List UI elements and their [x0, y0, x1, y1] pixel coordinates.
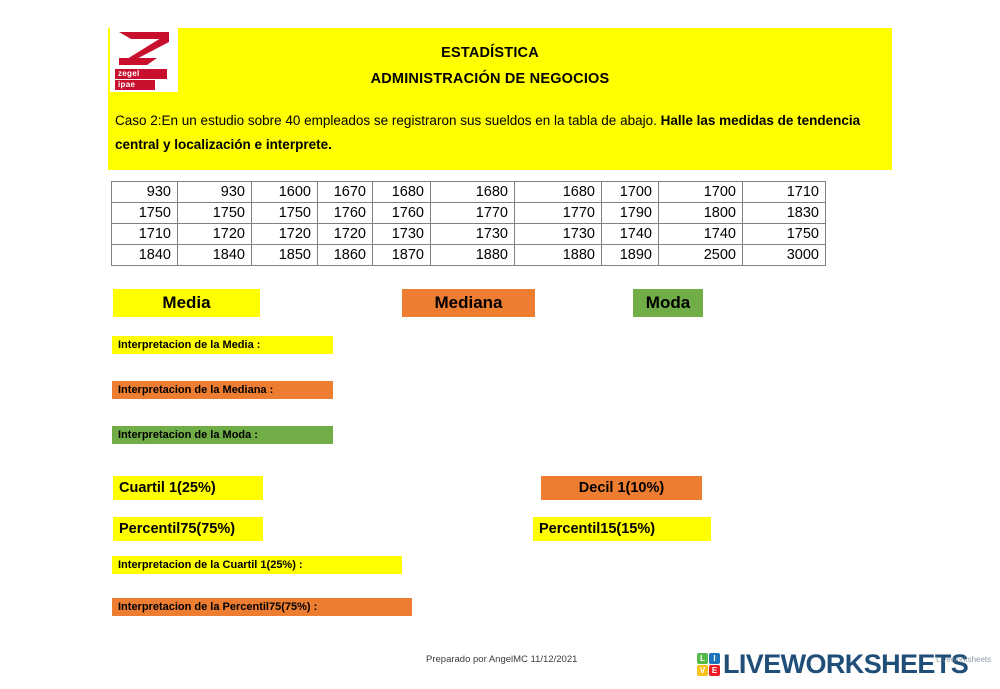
moda-answer-box[interactable]: Moda: [633, 289, 703, 317]
table-row: 1840184018501860187018801880189025003000: [112, 245, 826, 266]
decil1-answer-box[interactable]: Decil 1(10%): [541, 476, 702, 500]
table-cell: 1850: [252, 245, 318, 266]
liveworksheets-logo[interactable]: L I V E LIVEWORKSHEETS: [697, 648, 968, 680]
table-cell: 1730: [431, 224, 515, 245]
lw-tile-v: V: [697, 665, 708, 676]
mediana-answer-box[interactable]: Mediana: [402, 289, 535, 317]
page-title-program: ADMINISTRACIÓN DE NEGOCIOS: [190, 71, 790, 87]
table-cell: 1750: [178, 203, 252, 224]
cuartil1-answer-box[interactable]: Cuartil 1(25%): [113, 476, 263, 500]
media-label: Media: [162, 293, 210, 313]
interpretation-cuartil1-label: Interpretacion de la Cuartil 1(25%) :: [118, 559, 303, 571]
instruction-normal-text: Caso 2:En un estudio sobre 40 empleados …: [115, 113, 661, 128]
salary-data-table: 9309301600167016801680168017001700171017…: [111, 181, 826, 266]
table-cell: 1710: [112, 224, 178, 245]
interpretation-mediana-label: Interpretacion de la Mediana :: [118, 384, 273, 396]
table-cell: 1720: [318, 224, 373, 245]
table-cell: 1670: [318, 182, 373, 203]
table-cell: 1600: [252, 182, 318, 203]
table-cell: 1790: [602, 203, 659, 224]
table-cell: 1710: [743, 182, 826, 203]
table-cell: 1740: [659, 224, 743, 245]
table-cell: 1750: [743, 224, 826, 245]
interpretation-mediana-box[interactable]: Interpretacion de la Mediana :: [112, 381, 333, 399]
table-cell: 1680: [431, 182, 515, 203]
table-cell: 930: [178, 182, 252, 203]
lw-tile-l: L: [697, 653, 708, 664]
cuartil1-label: Cuartil 1(25%): [119, 480, 216, 496]
media-answer-box[interactable]: Media: [113, 289, 260, 317]
lw-tile-i: I: [709, 653, 720, 664]
interpretation-media-label: Interpretacion de la Media :: [118, 339, 260, 351]
interpretation-percentil75-box[interactable]: Interpretacion de la Percentil75(75%) :: [112, 598, 412, 616]
table-cell: 1840: [112, 245, 178, 266]
percentil75-answer-box[interactable]: Percentil75(75%): [113, 517, 263, 541]
table-cell: 1680: [515, 182, 602, 203]
interpretation-percentil75-label: Interpretacion de la Percentil75(75%) :: [118, 601, 317, 613]
table-cell: 1720: [252, 224, 318, 245]
instruction-paragraph: Caso 2:En un estudio sobre 40 empleados …: [115, 109, 880, 157]
liveworksheets-wordmark: LIVEWORKSHEETS: [723, 649, 968, 680]
page-title-subject: ESTADÍSTICA: [190, 45, 790, 61]
table-row: 1710172017201720173017301730174017401750: [112, 224, 826, 245]
table-cell: 1740: [602, 224, 659, 245]
table-cell: 1680: [373, 182, 431, 203]
table-cell: 1700: [659, 182, 743, 203]
table-cell: 1770: [515, 203, 602, 224]
table-cell: 1730: [373, 224, 431, 245]
decil1-label: Decil 1(10%): [579, 480, 664, 496]
table-cell: 1800: [659, 203, 743, 224]
table-cell: 1760: [373, 203, 431, 224]
table-cell: 1890: [602, 245, 659, 266]
zegel-z-mark-icon: [113, 30, 175, 68]
percentil15-label: Percentil15(15%): [539, 521, 655, 537]
table-cell: 1750: [252, 203, 318, 224]
table-cell: 1700: [602, 182, 659, 203]
table-cell: 1720: [178, 224, 252, 245]
table-cell: 1840: [178, 245, 252, 266]
table-cell: 3000: [743, 245, 826, 266]
table-cell: 1750: [112, 203, 178, 224]
table-cell: 1880: [515, 245, 602, 266]
interpretation-moda-box[interactable]: Interpretacion de la Moda :: [112, 426, 333, 444]
liveworksheets-watermark: Liveworksheets: [936, 655, 991, 664]
table-cell: 1860: [318, 245, 373, 266]
percentil75-label: Percentil75(75%): [119, 521, 235, 537]
table-cell: 1730: [515, 224, 602, 245]
table-row: 93093016001670168016801680170017001710: [112, 182, 826, 203]
interpretation-cuartil1-box[interactable]: Interpretacion de la Cuartil 1(25%) :: [112, 556, 402, 574]
table-cell: 1830: [743, 203, 826, 224]
table-cell: 930: [112, 182, 178, 203]
liveworksheets-tiles-icon: L I V E: [697, 653, 720, 676]
moda-label: Moda: [646, 293, 690, 313]
table-row: 1750175017501760176017701770179018001830: [112, 203, 826, 224]
table-cell: 1870: [373, 245, 431, 266]
table-cell: 1880: [431, 245, 515, 266]
logo-word-zegel: zegel: [115, 69, 167, 79]
table-cell: 2500: [659, 245, 743, 266]
interpretation-media-box[interactable]: Interpretacion de la Media :: [112, 336, 333, 354]
table-cell: 1760: [318, 203, 373, 224]
lw-tile-e: E: [709, 665, 720, 676]
table-cell: 1770: [431, 203, 515, 224]
interpretation-moda-label: Interpretacion de la Moda :: [118, 429, 258, 441]
percentil15-answer-box[interactable]: Percentil15(15%): [533, 517, 711, 541]
footer-credit: Preparado por AngelMC 11/12/2021: [426, 654, 577, 665]
logo-word-ipae: ipae: [115, 80, 155, 90]
zegel-ipae-logo: zegel ipae: [110, 28, 178, 92]
mediana-label: Mediana: [434, 293, 502, 313]
